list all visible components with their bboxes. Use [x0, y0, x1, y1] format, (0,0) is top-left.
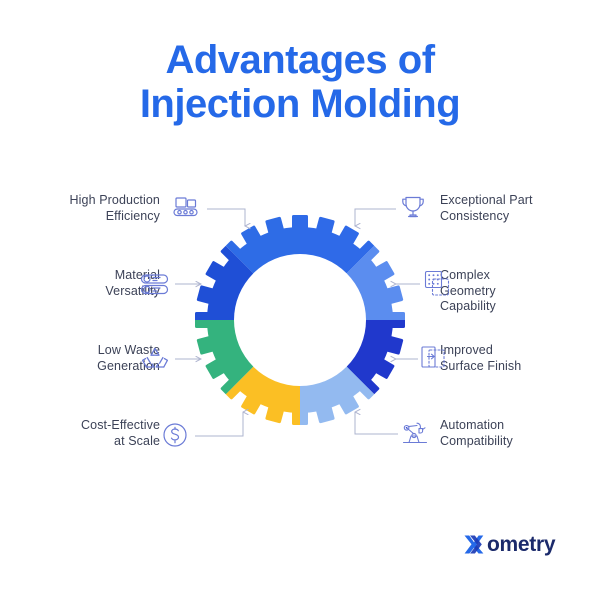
- label-complex-geometry-capability: Complex Geometry Capability: [440, 268, 590, 315]
- conveyor-belt-icon: [170, 191, 204, 225]
- xometry-logo: ometry: [462, 531, 555, 557]
- title-line-1: Advantages of: [0, 38, 600, 82]
- gear-ring-graphic: [185, 205, 415, 435]
- xometry-wordmark: ometry: [487, 534, 555, 555]
- label-cost-effective-at-scale: Cost-Effective at Scale: [10, 418, 160, 449]
- gear-segments: [185, 205, 415, 435]
- trophy-icon: [396, 190, 430, 224]
- surface-finish-icon: [416, 341, 450, 375]
- label-exceptional-part-consistency: Exceptional Part Consistency: [440, 193, 590, 224]
- toggle-switches-icon: [138, 267, 172, 301]
- xometry-x-icon: [462, 532, 486, 556]
- label-automation-compatibility: Automation Compatibility: [440, 418, 590, 449]
- page-title: Advantages of Injection Molding: [0, 38, 600, 126]
- label-high-production-efficiency: High Production Efficiency: [10, 193, 160, 224]
- recycle-icon: [138, 342, 172, 376]
- perforated-panel-icon: [420, 266, 454, 300]
- title-line-2: Injection Molding: [0, 82, 600, 126]
- label-improved-surface-finish: Improved Surface Finish: [440, 343, 590, 374]
- dollar-circle-icon: [158, 418, 192, 452]
- infographic-canvas: Advantages of Injection Molding: [0, 0, 600, 600]
- robot-arm-icon: [398, 416, 432, 450]
